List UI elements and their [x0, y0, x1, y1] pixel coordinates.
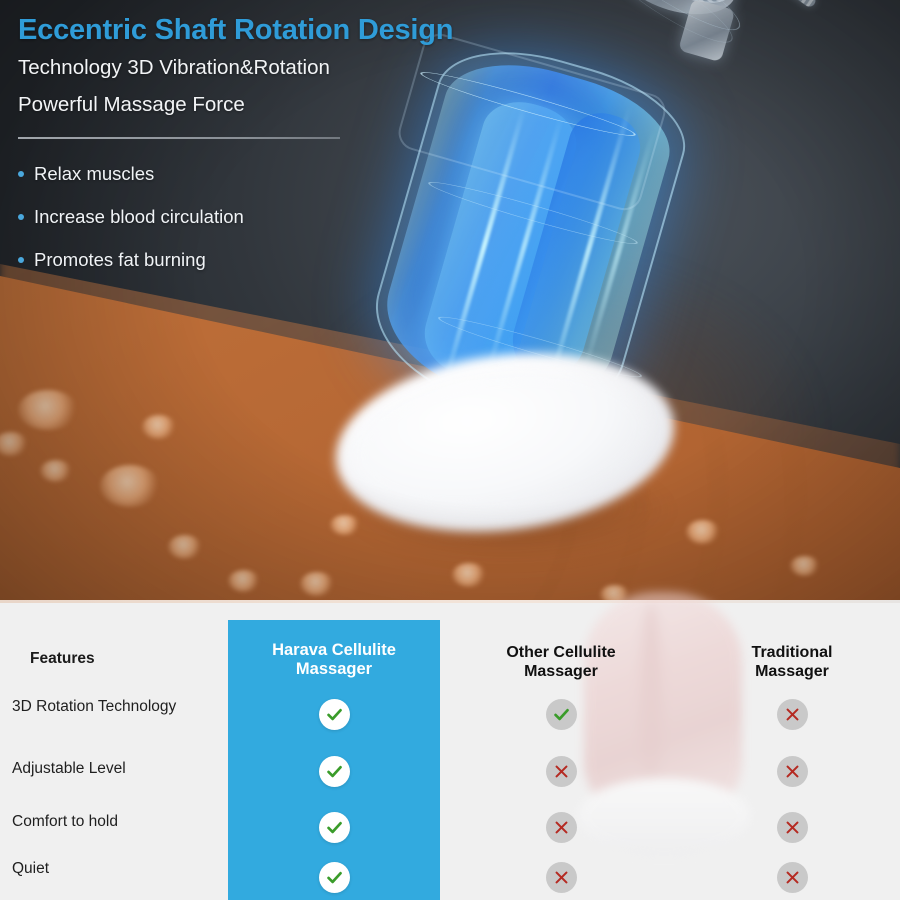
column-header-traditional-line1: Traditional	[702, 644, 882, 663]
check-icon-harava	[319, 812, 350, 843]
glow-dot	[168, 535, 202, 559]
table-row-label: Quiet	[12, 860, 49, 878]
cross-icon-traditional	[777, 756, 808, 787]
list-item: Relax muscles	[18, 163, 518, 185]
hero-subtitle-line-2: Powerful Massage Force	[18, 90, 518, 119]
check-icon-other	[546, 699, 577, 730]
column-header-other-line1: Other Cellulite	[471, 644, 651, 663]
list-item: Promotes fat burning	[18, 249, 518, 271]
column-header-traditional-line2: Massager	[702, 663, 882, 682]
glow-dot	[300, 572, 334, 596]
glow-dot	[40, 460, 72, 482]
watermark-leg	[584, 592, 742, 822]
glow-dot	[228, 570, 260, 592]
glow-dot	[790, 556, 820, 576]
page-title: Eccentric Shaft Rotation Design	[18, 14, 518, 46]
watermark-leg-crease	[640, 604, 662, 800]
hero-subtitle-line-1: Technology 3D Vibration&Rotation	[18, 53, 518, 82]
watermark-device	[578, 778, 750, 856]
background-watermark-image	[548, 592, 778, 882]
check-icon-harava	[319, 756, 350, 787]
glow-dot	[18, 390, 78, 430]
glow-dot	[142, 415, 176, 439]
cross-icon-traditional	[777, 812, 808, 843]
column-header-other-line2: Massager	[471, 663, 651, 682]
device-eccentric-shaft	[762, 0, 818, 9]
column-header-traditional: Traditional Massager	[702, 644, 882, 682]
hero-text-block: Eccentric Shaft Rotation Design Technolo…	[18, 14, 518, 292]
glow-dot	[452, 563, 486, 587]
table-row-label: Adjustable Level	[12, 760, 126, 778]
hero-section: Eccentric Shaft Rotation Design Technolo…	[0, 0, 900, 600]
column-header-harava-line1: Harava Cellulite	[238, 641, 430, 660]
section-divider	[0, 600, 900, 603]
list-item: Increase blood circulation	[18, 206, 518, 228]
column-header-other: Other Cellulite Massager	[471, 644, 651, 682]
glow-dot	[100, 465, 160, 507]
table-row-label: Comfort to hold	[12, 813, 118, 831]
cross-icon-traditional	[777, 862, 808, 893]
column-header-harava: Harava Cellulite Massager	[238, 641, 430, 680]
cross-icon-other	[546, 862, 577, 893]
cross-icon-traditional	[777, 699, 808, 730]
features-column-header: Features	[30, 650, 95, 668]
cross-icon-other	[546, 812, 577, 843]
hero-divider	[18, 137, 340, 139]
check-icon-harava	[319, 862, 350, 893]
table-row-label: 3D Rotation Technology	[12, 698, 176, 716]
hero-benefit-list: Relax muscles Increase blood circulation…	[18, 163, 518, 272]
column-header-harava-line2: Massager	[238, 660, 430, 679]
check-icon-harava	[319, 699, 350, 730]
glow-dot	[686, 520, 720, 544]
cross-icon-other	[546, 756, 577, 787]
product-infographic: Eccentric Shaft Rotation Design Technolo…	[0, 0, 900, 900]
glow-dot	[600, 585, 630, 600]
